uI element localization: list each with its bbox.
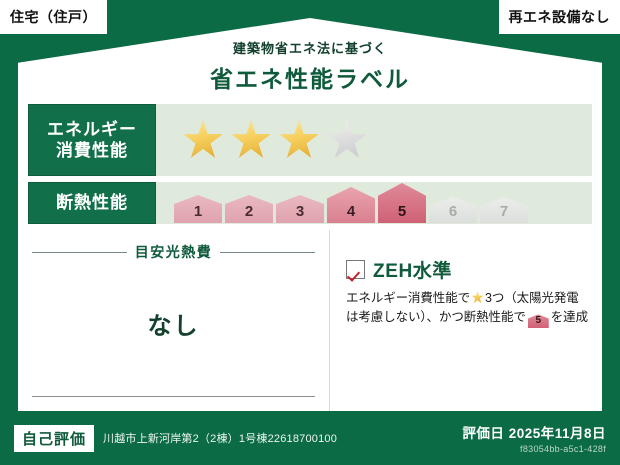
star-rating [182,119,368,161]
insulation-level-chips: 1234567 [174,183,528,223]
footer-left-group: 自己評価 川越市上新河岸第2（2棟）1号棟22618700100 [14,425,462,452]
footer-right-group: 評価日 2025年11月8日 f83054bb-a5c1-428f [462,422,606,454]
zeh-desc-line1-b: 3つ（太陽光発電 [485,291,579,305]
star-filled-icon [182,119,224,161]
label-panel: エネルギー 消費性能 断熱性能 1234567 目安光熱費 なし [18,96,602,411]
insulation-performance-row: 断熱性能 1234567 [18,180,602,230]
insulation-level-6: 6 [429,197,477,223]
utility-bottom-rule [32,396,315,397]
insulation-level-3: 3 [276,195,324,223]
utility-cost-section: 目安光熱費 なし [18,230,330,411]
label-uuid: f83054bb-a5c1-428f [462,444,606,454]
utility-cost-value: なし [32,262,315,396]
star-filled-icon [230,119,272,161]
insulation-performance-label-key: 断熱性能 [28,182,156,224]
lower-section: 目安光熱費 なし ZEH水準 エネルギー消費性能で3つ（太陽光発電は考慮しない）… [18,230,602,411]
divider-right [220,252,315,253]
insulation-level-1: 1 [174,195,222,223]
energy-key-line2: 消費性能 [56,141,128,160]
label-footer: 自己評価 川越市上新河岸第2（2棟）1号棟22618700100 評価日 202… [0,411,620,465]
insulation-level-2: 2 [225,195,273,223]
energy-performance-row: エネルギー 消費性能 [18,96,602,180]
utility-cost-heading: 目安光熱費 [32,242,315,262]
zeh-desc-line2-b: を達成 [551,310,588,324]
energy-performance-value [156,104,592,176]
star-icon [471,291,484,304]
self-evaluation-badge: 自己評価 [14,425,94,452]
property-address: 川越市上新河岸第2（2棟）1号棟22618700100 [103,430,337,446]
insulation-performance-value: 1234567 [156,182,592,224]
zeh-checkbox-checked-icon[interactable] [346,260,365,279]
star-empty-icon [326,119,368,161]
building-type-tag: 住宅（住戸） [0,0,107,34]
insulation-level-5: 5 [378,183,426,223]
zeh-desc-line1-a: エネルギー消費性能で [346,291,470,305]
insulation-level-7: 7 [480,197,528,223]
zeh-heading: ZEH水準 [346,256,590,283]
evaluation-date: 評価日 2025年11月8日 [462,422,606,442]
zeh-section: ZEH水準 エネルギー消費性能で3つ（太陽光発電は考慮しない）、かつ断熱性能で5… [330,230,602,411]
zeh-desc-line2-a: は考慮しない）、かつ断熱性能で [346,310,526,324]
energy-key-line1: エネルギー [47,120,137,139]
energy-performance-label: 住宅（住戸） 再エネ設備なし 建築物省エネ法に基づく 省エネ性能ラベル エネルギ… [0,0,620,465]
renewable-equipment-tag: 再エネ設備なし [499,0,620,34]
star-filled-icon [278,119,320,161]
insulation-level-4: 4 [327,187,375,223]
zeh-description: エネルギー消費性能で3つ（太陽光発電は考慮しない）、かつ断熱性能で5を達成 [346,289,590,328]
energy-performance-label-key: エネルギー 消費性能 [28,104,156,176]
utility-cost-title: 目安光熱費 [135,242,213,262]
zeh-title: ZEH水準 [373,256,452,283]
insulation-level-inline-chip: 5 [528,314,549,328]
divider-left [32,252,127,253]
